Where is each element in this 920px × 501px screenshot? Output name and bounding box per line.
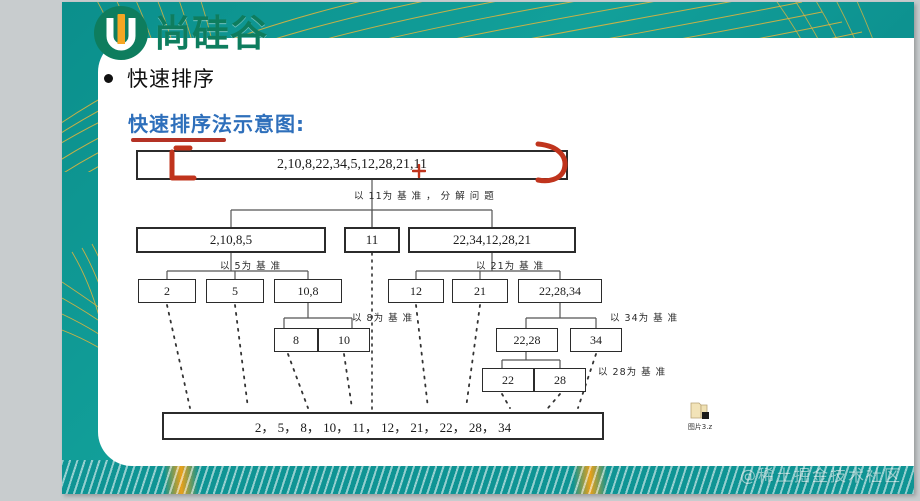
- diagram-box: 8: [274, 328, 318, 352]
- u-logo-icon: [92, 4, 150, 62]
- diagram-box: 2,10,8,5: [136, 227, 326, 253]
- diagram-box: 12: [388, 279, 444, 303]
- diagram-pivot-label: 以 28为 基 准: [598, 364, 666, 378]
- diagram-box: 11: [344, 227, 400, 253]
- image-placeholder-glyph: [689, 401, 711, 421]
- screenshot-root: @稀土掘金技术社区 尚硅谷 快速排序 快速排序法示意图:: [0, 0, 920, 501]
- image-placeholder-label: 图片3.z: [682, 422, 718, 432]
- bullet-dot-icon: [104, 74, 113, 83]
- diagram-pivot-label: 以 11为 基 准 ， 分 解 问 题: [354, 188, 495, 202]
- diagram-box: 10,8: [274, 279, 342, 303]
- diagram-box: 2: [138, 279, 196, 303]
- diagram-pivot-label: 以 21为 基 准: [476, 258, 544, 272]
- bullet-heading: 快速排序: [104, 63, 215, 93]
- watermark: @稀土掘金技术社区: [740, 462, 902, 486]
- diagram-box: 21: [452, 279, 508, 303]
- diagram-pivot-label: 以 34为 基 准: [610, 310, 678, 324]
- brand-name: 尚硅谷: [154, 15, 268, 52]
- page-title: 快速排序法示意图:: [128, 108, 305, 137]
- image-placeholder-icon[interactable]: 图片3.z: [682, 401, 718, 435]
- brand-logo: 尚硅谷: [92, 2, 268, 64]
- diagram-pivot-label: 以 8为 基 准: [352, 310, 413, 324]
- diagram-box: 22,34,12,28,21: [408, 227, 576, 253]
- bullet-heading-label: 快速排序: [127, 63, 215, 93]
- diagram-box: 10: [318, 328, 370, 352]
- diagram-box: 34: [570, 328, 622, 352]
- diagram-box: 28: [534, 368, 586, 392]
- diagram-box: 22: [482, 368, 534, 392]
- diagram-pivot-label: 以 5为 基 准: [220, 258, 281, 272]
- diagram-box: 2， 5， 8， 10， 11， 12， 21， 22， 28， 34: [162, 412, 604, 440]
- diagram-box: 22,28,34: [518, 279, 602, 303]
- diagram-box: 22,28: [496, 328, 558, 352]
- diagram-box: 5: [206, 279, 264, 303]
